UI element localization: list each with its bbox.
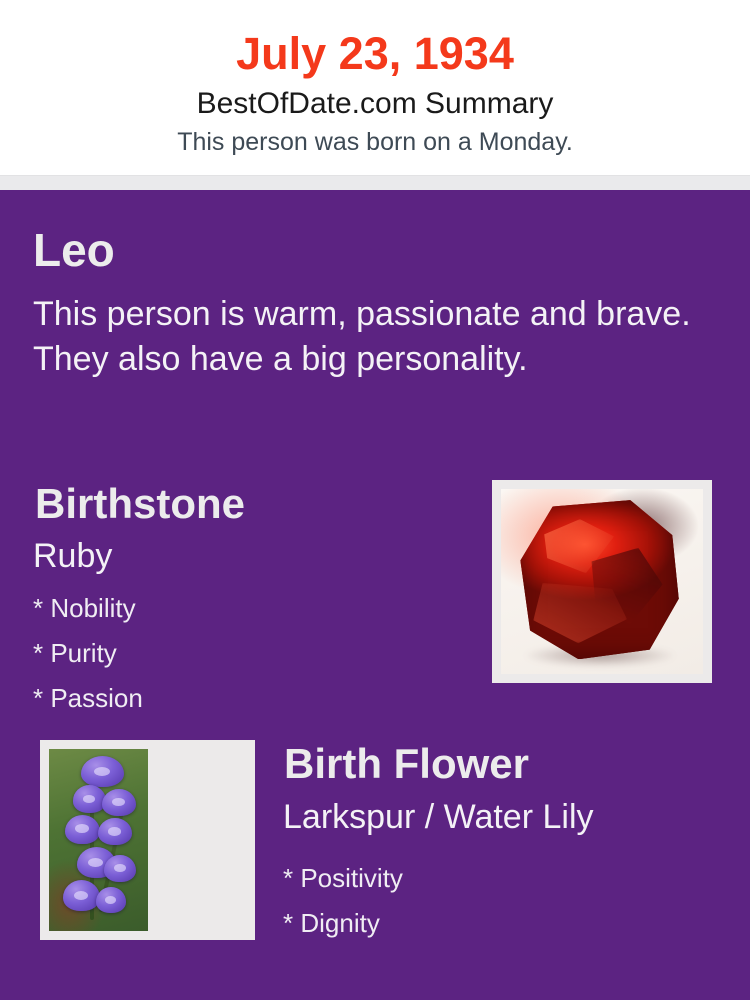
card-header: July 23, 1934 BestOfDate.com Summary Thi… — [0, 0, 750, 175]
list-item: * Nobility — [33, 586, 453, 631]
larkspur-bloom — [63, 880, 100, 911]
larkspur-bloom — [102, 789, 135, 816]
gem-facet — [533, 583, 627, 643]
larkspur-bloom — [98, 818, 131, 845]
zodiac-sign-name: Leo — [33, 222, 115, 278]
birth-flower-heading: Birth Flower — [284, 739, 529, 789]
larkspur-bloom — [81, 756, 124, 787]
larkspur-photo — [49, 749, 148, 931]
birth-flower-name: Larkspur / Water Lily — [283, 796, 594, 838]
page-title-date: July 23, 1934 — [0, 28, 750, 80]
larkspur-bloom — [104, 855, 136, 882]
birthstone-name: Ruby — [33, 535, 112, 577]
gem-body — [517, 500, 679, 659]
list-item: * Positivity — [283, 856, 683, 901]
list-item: * Passion — [33, 676, 453, 721]
header-divider — [0, 175, 750, 190]
summary-card: July 23, 1934 BestOfDate.com Summary Thi… — [0, 0, 750, 1000]
birth-flower-trait-list: * Positivity * Dignity — [283, 856, 683, 946]
larkspur-bloom — [73, 785, 106, 812]
birthstone-image-frame — [492, 480, 712, 683]
birth-flower-image-frame — [40, 740, 255, 940]
birth-flower-image — [49, 749, 246, 931]
birthstone-heading: Birthstone — [35, 479, 245, 529]
larkspur-bloom — [65, 815, 100, 844]
list-item: * Purity — [33, 631, 453, 676]
zodiac-description: This person is warm, passionate and brav… — [33, 292, 693, 382]
list-item: * Dignity — [283, 901, 683, 946]
birthstone-trait-list: * Nobility * Purity * Passion — [33, 586, 453, 721]
larkspur-bloom — [96, 887, 126, 912]
weekday-note: This person was born on a Monday. — [0, 127, 750, 157]
ruby-gemstone-image — [501, 489, 703, 674]
site-summary-label: BestOfDate.com Summary — [0, 86, 750, 122]
